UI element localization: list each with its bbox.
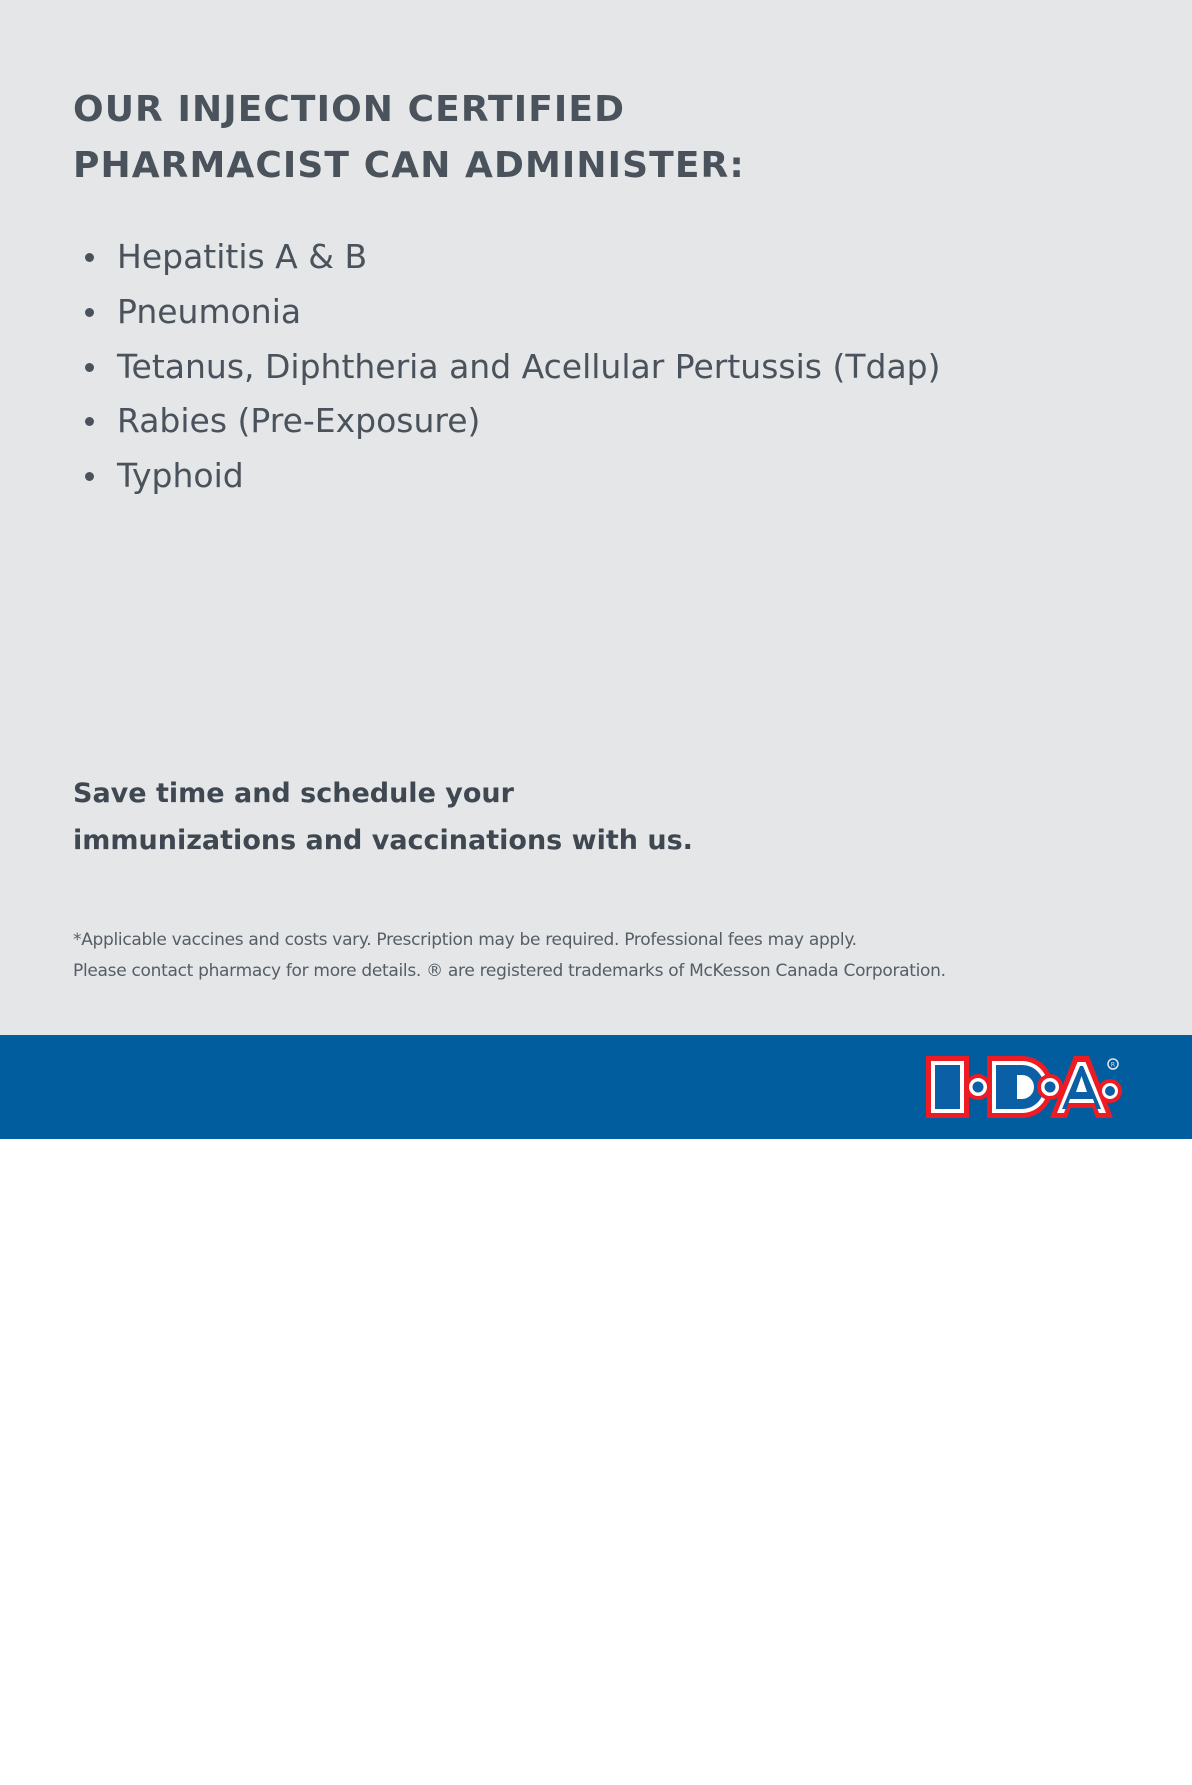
vaccine-label: Pneumonia bbox=[117, 292, 301, 331]
vaccine-list: Hepatitis A & B Pneumonia Tetanus, Dipht… bbox=[73, 230, 1093, 504]
headline-line-1: OUR INJECTION CERTIFIED bbox=[73, 82, 973, 138]
store-info-panel: Penhold Pharmacy RX #3 - 1380 Robinson A… bbox=[0, 1139, 1192, 1785]
cta-line-1: Save time and schedule your bbox=[73, 770, 833, 817]
vaccine-label: Hepatitis A & B bbox=[117, 237, 367, 276]
list-item: Tetanus, Diphtheria and Acellular Pertus… bbox=[73, 340, 1093, 395]
vaccine-label: Typhoid bbox=[117, 456, 244, 495]
brand-band: R bbox=[0, 1035, 1192, 1139]
vaccine-label: Rabies (Pre-Exposure) bbox=[117, 401, 480, 440]
svg-text:R: R bbox=[1111, 1062, 1115, 1069]
call-to-action-text: Save time and schedule your immunization… bbox=[73, 770, 833, 865]
services-panel: OUR INJECTION CERTIFIED PHARMACIST CAN A… bbox=[0, 0, 1192, 1035]
list-item: Pneumonia bbox=[73, 285, 1093, 340]
disclaimer-text: *Applicable vaccines and costs vary. Pre… bbox=[73, 925, 1113, 988]
cta-line-2: immunizations and vaccinations with us. bbox=[73, 817, 833, 864]
pharmacy-flyer: OUR INJECTION CERTIFIED PHARMACIST CAN A… bbox=[0, 0, 1192, 1785]
list-item: Hepatitis A & B bbox=[73, 230, 1093, 285]
ida-logo: R bbox=[924, 1054, 1124, 1120]
list-item: Rabies (Pre-Exposure) bbox=[73, 394, 1093, 449]
list-item: Typhoid bbox=[73, 449, 1093, 504]
disclaimer-line-2: Please contact pharmacy for more details… bbox=[73, 956, 1113, 987]
page-title: OUR INJECTION CERTIFIED PHARMACIST CAN A… bbox=[73, 82, 973, 194]
vaccine-label: Tetanus, Diphtheria and Acellular Pertus… bbox=[117, 347, 941, 386]
headline-line-2: PHARMACIST CAN ADMINISTER: bbox=[73, 138, 973, 194]
disclaimer-line-1: *Applicable vaccines and costs vary. Pre… bbox=[73, 925, 1113, 956]
